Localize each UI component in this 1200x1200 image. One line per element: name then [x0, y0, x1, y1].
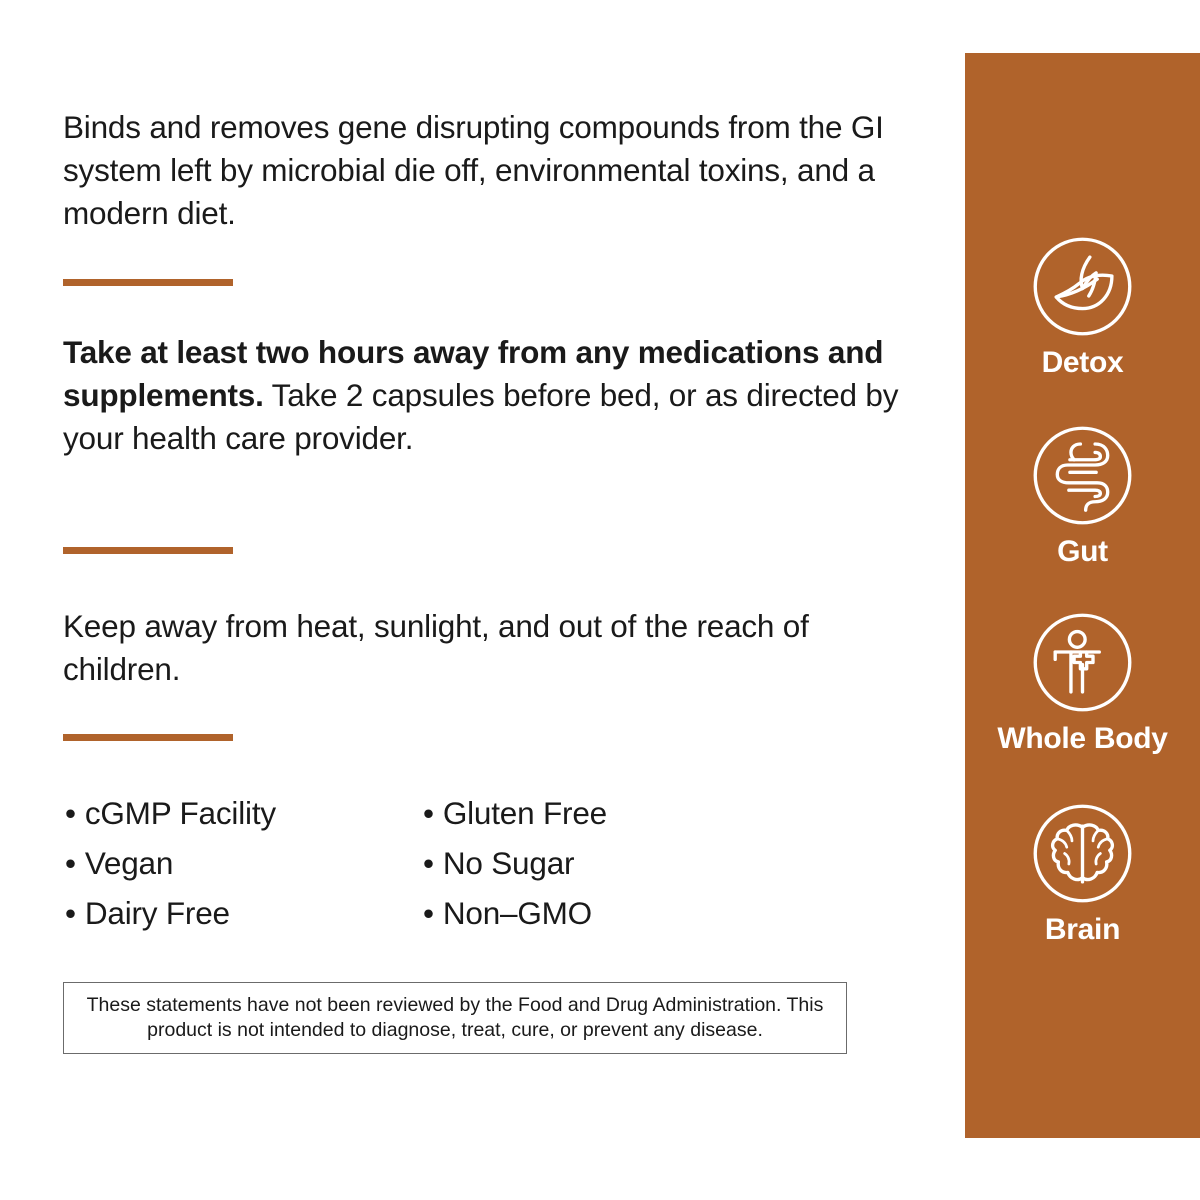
product-label-infographic: Binds and removes gene disrupting compou…: [0, 0, 1200, 1200]
list-item: •cGMP Facility: [65, 788, 276, 838]
paragraph-benefits: Binds and removes gene disrupting compou…: [63, 106, 899, 235]
list-item-label: Gluten Free: [443, 795, 607, 831]
benefit-item-detox: Detox: [965, 234, 1200, 381]
list-item-label: Vegan: [85, 845, 173, 881]
bullet-marker-icon: •: [423, 838, 434, 888]
bullet-column-right: •Gluten Free •No Sugar •Non–GMO: [423, 788, 607, 938]
benefit-label: Whole Body: [965, 721, 1200, 757]
bullet-marker-icon: •: [65, 788, 76, 838]
list-item-label: cGMP Facility: [85, 795, 276, 831]
benefit-label: Brain: [965, 912, 1200, 948]
bullet-marker-icon: •: [65, 838, 76, 888]
benefits-sidebar: Detox Gut W: [965, 53, 1200, 1138]
person-health-icon: [1030, 610, 1135, 715]
list-item: •Dairy Free: [65, 888, 276, 938]
list-item-label: Non–GMO: [443, 895, 592, 931]
benefit-item-whole-body: Whole Body: [965, 610, 1200, 757]
bullet-marker-icon: •: [65, 888, 76, 938]
list-item: •Gluten Free: [423, 788, 607, 838]
bullet-marker-icon: •: [423, 888, 434, 938]
fda-disclaimer-text: These statements have not been reviewed …: [64, 993, 846, 1043]
leaf-icon: [1030, 234, 1135, 339]
benefit-item-gut: Gut: [965, 423, 1200, 570]
list-item-label: Dairy Free: [85, 895, 230, 931]
list-item-label: No Sugar: [443, 845, 574, 881]
divider-rule-1: [63, 279, 233, 286]
content-column: Binds and removes gene disrupting compou…: [63, 0, 903, 1200]
fda-disclaimer-box: These statements have not been reviewed …: [63, 982, 847, 1054]
benefit-item-brain: Brain: [965, 801, 1200, 948]
list-item: •Non–GMO: [423, 888, 607, 938]
intestine-icon: [1030, 423, 1135, 528]
paragraph-directions: Take at least two hours away from any me…: [63, 331, 903, 460]
list-item: •Vegan: [65, 838, 276, 888]
divider-rule-3: [63, 734, 233, 741]
benefit-label: Gut: [965, 534, 1200, 570]
bullet-marker-icon: •: [423, 788, 434, 838]
list-item: •No Sugar: [423, 838, 607, 888]
paragraph-storage: Keep away from heat, sunlight, and out o…: [63, 605, 863, 691]
bullet-column-left: •cGMP Facility •Vegan •Dairy Free: [65, 788, 276, 938]
brain-icon: [1030, 801, 1135, 906]
divider-rule-2: [63, 547, 233, 554]
benefit-label: Detox: [965, 345, 1200, 381]
